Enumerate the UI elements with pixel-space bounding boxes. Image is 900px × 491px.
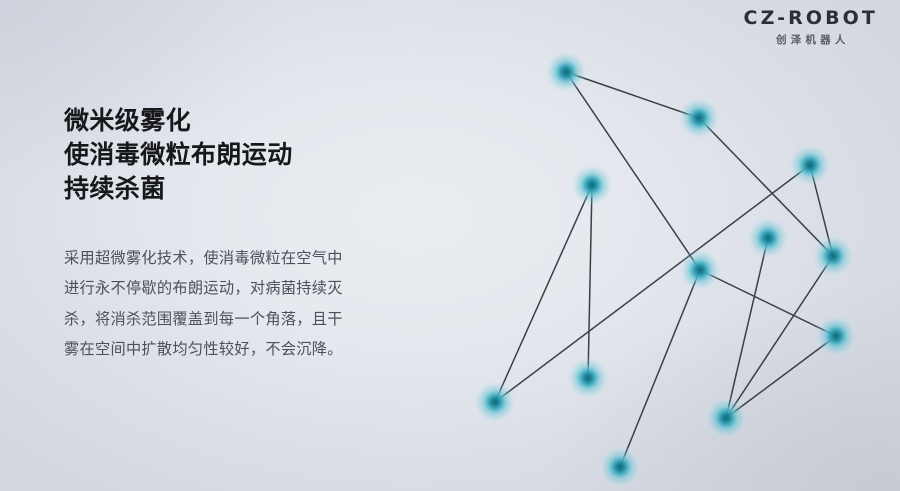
text-column: 微米级雾化 使消毒微粒布朗运动 持续杀菌 采用超微雾化技术，使消毒微粒在空气中 …	[64, 104, 464, 366]
edge-layer	[495, 72, 836, 467]
network-node: node-right-lower	[822, 322, 850, 350]
logo-wordmark-cn: 创泽机器人	[744, 35, 878, 46]
body-line-3: 杀，将消杀范围覆盖到每一个角落，且干	[64, 305, 436, 335]
network-node: node-right-mid	[754, 224, 782, 252]
slide-canvas: CZ-ROBOT 创泽机器人 微米级雾化 使消毒微粒布朗运动 持续杀菌 采用超微…	[0, 0, 900, 491]
network-node: node-bottom-right	[712, 404, 740, 432]
headline-line-2: 使消毒微粒布朗运动	[64, 138, 464, 172]
node-layer: node-top-leftnode-upper-midnode-left-mid…	[473, 50, 857, 488]
headline-line-3: 持续杀菌	[64, 172, 464, 206]
network-node: node-bottom-center	[606, 453, 634, 481]
network-node: node-mid-lower	[574, 364, 602, 392]
brand-logo: CZ-ROBOT 创泽机器人	[744, 9, 878, 46]
page-title: 微米级雾化 使消毒微粒布朗运动 持续杀菌	[64, 104, 464, 206]
network-node: node-center	[686, 256, 714, 284]
network-edge	[588, 185, 592, 378]
body-line-1: 采用超微雾化技术，使消毒微粒在空气中	[64, 244, 436, 274]
body-line-2: 进行永不停歇的布朗运动，对病菌持续灭	[64, 274, 436, 304]
network-edge	[700, 270, 836, 336]
network-node: node-upper-mid	[685, 104, 713, 132]
headline-line-1: 微米级雾化	[64, 104, 464, 138]
body-line-4: 雾在空间中扩散均匀性较好，不会沉降。	[64, 335, 436, 365]
body-paragraph: 采用超微雾化技术，使消毒微粒在空气中 进行永不停歇的布朗运动，对病菌持续灭 杀，…	[64, 244, 436, 366]
network-node: node-far-right	[819, 242, 847, 270]
network-node: node-top-left	[552, 58, 580, 86]
network-node: node-right-upper	[796, 151, 824, 179]
network-node: node-left-mid	[578, 171, 606, 199]
logo-wordmark: CZ-ROBOT	[744, 9, 878, 28]
network-node: node-bottom-left	[481, 388, 509, 416]
